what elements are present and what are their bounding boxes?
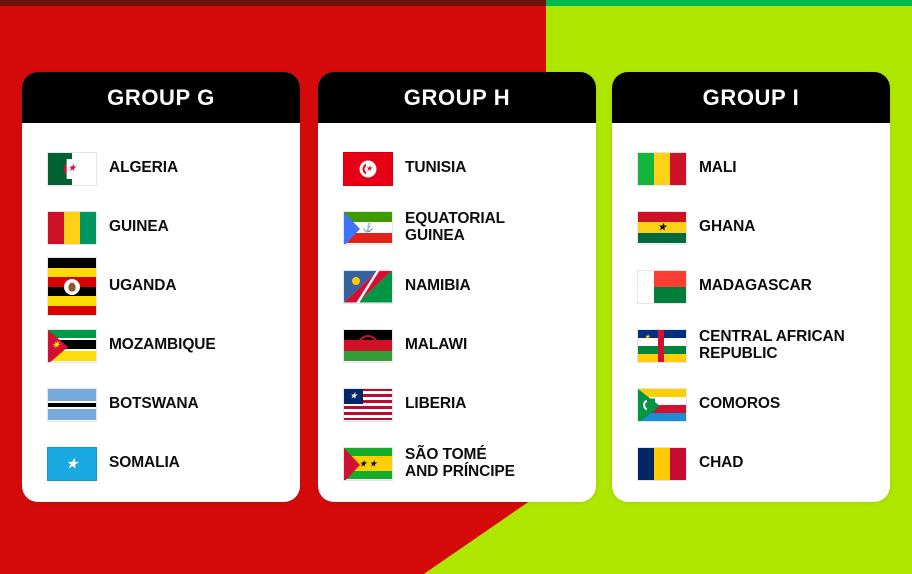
team-name: LIBERIA [405, 396, 466, 413]
team-row[interactable]: BOTSWANA [22, 375, 300, 434]
team-name: MALAWI [405, 337, 467, 354]
team-row[interactable]: UGANDA [22, 257, 300, 316]
liberia-flag: ★ [343, 388, 393, 422]
team-name: GHANA [699, 219, 755, 236]
group-cards-container: GROUP G ★ ALGERIA GUINEA [0, 0, 912, 574]
team-row[interactable]: COMOROS [612, 375, 890, 434]
group-card-g-title: GROUP G [107, 85, 215, 111]
team-row[interactable]: MALI [612, 139, 890, 198]
team-row[interactable]: ✷ MOZAMBIQUE [22, 316, 300, 375]
group-card-h-header: GROUP H [318, 72, 596, 123]
mali-flag [637, 152, 687, 186]
qualifier-groups-graphic: GROUP G ★ ALGERIA GUINEA [0, 0, 912, 574]
team-row[interactable]: MALAWI [318, 316, 596, 375]
tunisia-flag: ★ [343, 152, 393, 186]
team-row[interactable]: CHAD [612, 434, 890, 493]
malawi-flag [343, 329, 393, 363]
team-name: COMOROS [699, 396, 780, 413]
uganda-flag [47, 257, 97, 316]
team-row[interactable]: ★ GHANA [612, 198, 890, 257]
team-name: MALI [699, 160, 736, 177]
somalia-flag: ★ [47, 447, 97, 481]
team-row[interactable]: ★ SOMALIA [22, 434, 300, 493]
equatorial-guinea-flag: ⚓ [343, 211, 393, 245]
chad-flag [637, 447, 687, 481]
team-name: MADAGASCAR [699, 278, 812, 295]
sao-tome-and-principe-flag: ★★ [343, 447, 393, 481]
team-row[interactable]: ★ LIBERIA [318, 375, 596, 434]
team-row[interactable]: ★ TUNISIA [318, 139, 596, 198]
team-row[interactable]: GUINEA [22, 198, 300, 257]
ghana-flag: ★ [637, 211, 687, 245]
team-name: EQUATORIAL GUINEA [405, 211, 505, 244]
group-card-i-body: MALI ★ GHANA MADAGASCAR [612, 123, 890, 493]
team-row[interactable]: ★★ SÃO TOMÉ AND PRÍNCIPE [318, 434, 596, 493]
team-row[interactable]: ⚓ EQUATORIAL GUINEA [318, 198, 596, 257]
comoros-flag [637, 388, 687, 422]
team-name: GUINEA [109, 219, 169, 236]
group-card-g-body: ★ ALGERIA GUINEA UGANDA [22, 123, 300, 493]
team-name: SOMALIA [109, 455, 180, 472]
team-name: BOTSWANA [109, 396, 199, 413]
group-card-i[interactable]: GROUP I MALI ★ GHANA [612, 72, 890, 502]
team-name: ALGERIA [109, 160, 178, 177]
team-name: MOZAMBIQUE [109, 337, 216, 354]
group-card-g[interactable]: GROUP G ★ ALGERIA GUINEA [22, 72, 300, 502]
team-name: UGANDA [109, 278, 176, 295]
central-african-republic-flag: ★ [637, 329, 687, 363]
group-card-i-title: GROUP I [703, 85, 800, 111]
madagascar-flag [637, 270, 687, 304]
team-row[interactable]: NAMIBIA [318, 257, 596, 316]
group-card-h[interactable]: GROUP H ★ TUNISIA ⚓ EQUATORIAL GUINEA [318, 72, 596, 502]
group-card-h-body: ★ TUNISIA ⚓ EQUATORIAL GUINEA NAMIBIA [318, 123, 596, 493]
team-name: NAMIBIA [405, 278, 471, 295]
team-row[interactable]: ★ CENTRAL AFRICAN REPUBLIC [612, 316, 890, 375]
team-name: TUNISIA [405, 160, 466, 177]
team-name: CHAD [699, 455, 743, 472]
team-name: CENTRAL AFRICAN REPUBLIC [699, 329, 845, 362]
algeria-flag: ★ [47, 152, 97, 186]
namibia-flag [343, 270, 393, 304]
team-name: SÃO TOMÉ AND PRÍNCIPE [405, 447, 515, 480]
group-card-h-title: GROUP H [404, 85, 510, 111]
group-card-i-header: GROUP I [612, 72, 890, 123]
group-card-g-header: GROUP G [22, 72, 300, 123]
botswana-flag [47, 388, 97, 422]
guinea-flag [47, 211, 97, 245]
mozambique-flag: ✷ [47, 329, 97, 363]
team-row[interactable]: ★ ALGERIA [22, 139, 300, 198]
team-row[interactable]: MADAGASCAR [612, 257, 890, 316]
